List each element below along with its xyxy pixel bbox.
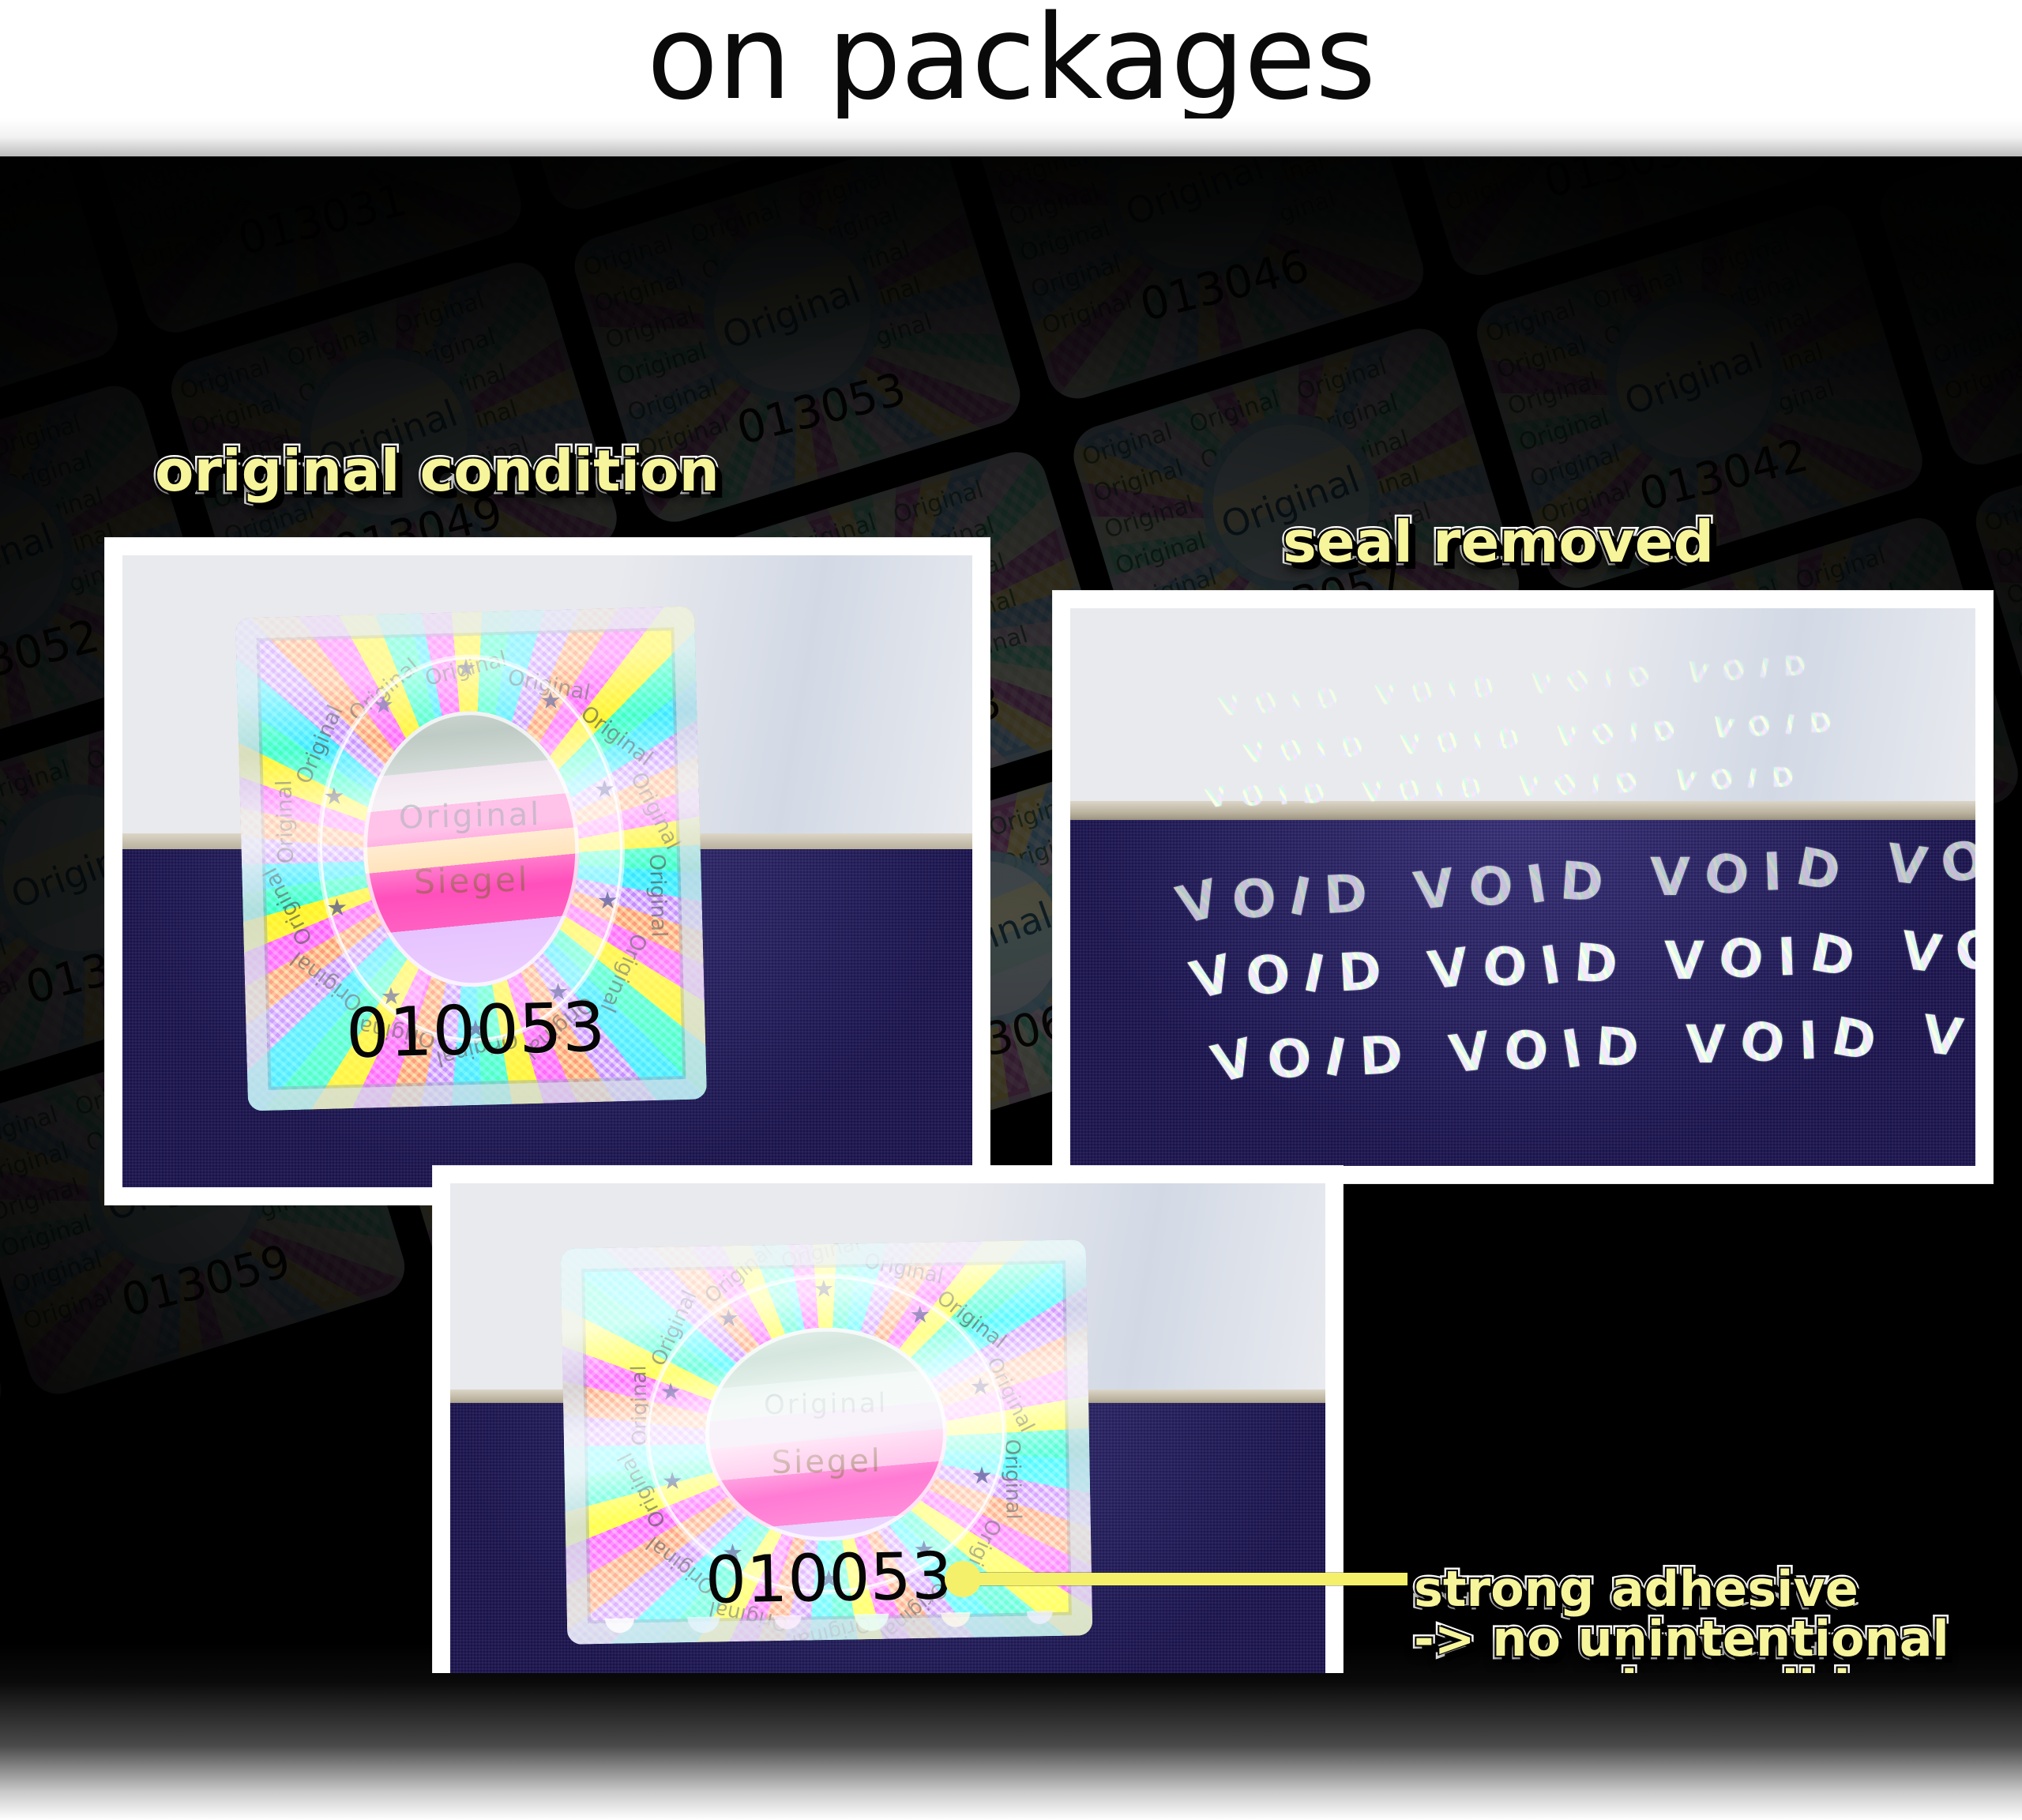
void-residue-letter: I [1299, 947, 1329, 1002]
void-residue-letter: D [1302, 780, 1325, 808]
void-residue-letter: D [1652, 717, 1677, 746]
photo-original-image: OriginalOriginalOriginalOriginalOriginal… [122, 555, 972, 1187]
void-residue-gap [1867, 928, 1887, 981]
void-residue-letter: V [1664, 935, 1704, 987]
void-residue-letter: D [1573, 937, 1619, 992]
void-residue-letter: I [1285, 870, 1315, 925]
void-residue-letter: V [1673, 766, 1697, 796]
void-residue-letter: D [1558, 855, 1605, 910]
void-residue-gap [1689, 717, 1700, 745]
void-residue-letter: O [1699, 844, 1754, 905]
seal-serial-number: 010053 [705, 1539, 953, 1618]
void-residue-letter: I [1558, 1022, 1585, 1077]
void-residue-letter: O [1713, 929, 1768, 990]
void-residue-letter: D [1625, 664, 1651, 693]
annotation-leader-line [965, 1573, 1408, 1585]
void-residue-letter: V [1650, 852, 1690, 904]
void-residue-letter: O [1747, 713, 1771, 741]
void-residue-letter: V [1374, 681, 1397, 709]
void-residue-letter: O [1552, 770, 1579, 800]
void-residue-letter: D [1494, 725, 1521, 755]
void-residue-gap [1351, 684, 1362, 712]
void-residue-row: VOID VOID VOID VOID [1190, 920, 1975, 1005]
void-residue-letter: D [1792, 840, 1844, 900]
void-residue-letter: V [1400, 731, 1423, 760]
seal-serial-number: 010053 [344, 988, 606, 1074]
void-residue-letter: O [1396, 776, 1422, 806]
void-residue-letter: V [1919, 1008, 1965, 1065]
void-residue-letter: D [1315, 686, 1339, 713]
void-residue-letter: O [1254, 690, 1277, 717]
void-residue-letter: O [1279, 738, 1302, 765]
void-residue-letter: D [1614, 769, 1639, 798]
void-residue-letter: O [1231, 873, 1276, 926]
void-residue-letter: V [1897, 925, 1944, 982]
photo-seal-lifted-image: OriginalOriginalOriginalOriginalOriginal… [450, 1183, 1325, 1673]
void-residue-gap [1807, 763, 1817, 790]
void-residue-letter: O [1973, 1006, 1975, 1063]
void-residue-letter: V [1556, 724, 1577, 751]
void-residue-letter: V [1172, 872, 1224, 932]
void-residue-gap [1616, 853, 1637, 906]
void-residue-letter: V [1686, 659, 1710, 689]
void-residue-letter: V [1425, 942, 1471, 998]
void-residue-letter: O [1937, 833, 1975, 891]
photo-original-condition[interactable]: OriginalOriginalOriginalOriginalOriginal… [105, 538, 990, 1205]
void-residue-letter: I [1523, 857, 1550, 912]
void-residue-letter: O [1408, 679, 1434, 709]
void-residue-letter: O [1479, 939, 1529, 996]
void-residue-gap [1853, 841, 1874, 894]
void-residue-letter: D [1594, 1021, 1641, 1076]
void-residue-letter: O [1722, 657, 1746, 685]
void-residue-letter: O [1246, 949, 1291, 1002]
void-residue-letter: D [1809, 710, 1831, 737]
void-residue-gap [1494, 774, 1505, 801]
void-residue-letter: V [1217, 691, 1243, 722]
void-residue-letter: V [1446, 1025, 1493, 1081]
void-residue-letter: I [1745, 765, 1760, 793]
void-residue-letter: V [1711, 714, 1735, 744]
void-residue-gap [1889, 1012, 1908, 1065]
title-band: on packages [0, 0, 2022, 156]
void-residue-letter: I [1471, 728, 1483, 756]
void-residue-gap [1532, 725, 1543, 753]
void-residue-letter: V [1362, 778, 1385, 807]
void-residue-on-desk: VOID VOID VOID VOID VOID VOID VOID VOID … [1170, 848, 1876, 1094]
page-title: on packages [0, 0, 2022, 119]
void-residue-gap [1380, 866, 1400, 919]
void-residue-gap [1652, 1020, 1672, 1073]
void-residue-letter: O [1952, 923, 1975, 980]
void-residue-on-card: VOID VOID VOID VOID VOID VOID VOID VOID … [1206, 670, 1840, 815]
void-residue-letter: I [1446, 677, 1457, 705]
void-residue-letter: O [1266, 1033, 1311, 1086]
void-residue-letter: V [1242, 739, 1268, 769]
void-residue-row: VOID VOID VOID VOID [1206, 763, 1818, 811]
void-residue-letter: I [1276, 781, 1290, 810]
void-residue-letter: D [1323, 867, 1369, 922]
void-residue-letter: D [1828, 1010, 1880, 1070]
void-residue-row: VOID VOID VOID VOID [1244, 709, 1856, 767]
photo-seal-lifted[interactable]: OriginalOriginalOriginalOriginalOriginal… [433, 1166, 1343, 1673]
void-residue-letter: D [1771, 765, 1793, 792]
void-residue-letter: O [1565, 667, 1592, 698]
void-residue-letter: O [1709, 766, 1733, 794]
caption-original-condition: original condition [155, 442, 720, 500]
void-residue-letter: D [1456, 773, 1483, 803]
void-residue-letter: I [1434, 777, 1445, 804]
void-residue-letter: I [1314, 736, 1329, 765]
void-residue-letter: I [1798, 1015, 1819, 1068]
void-residue-letter: D [1469, 674, 1496, 704]
void-residue-gap [1394, 945, 1414, 998]
void-residue-letter: D [1340, 735, 1363, 762]
photo-seal-removed[interactable]: VOID VOID VOID VOID VOID VOID VOID VOID … [1053, 591, 1993, 1183]
void-residue-letter: V [1686, 1019, 1726, 1071]
void-residue-letter: I [1590, 771, 1602, 799]
void-residue-letter: D [1806, 927, 1859, 986]
void-residue-letter: V [1883, 837, 1930, 893]
void-residue-letter: D [1783, 653, 1806, 680]
annotation-leader-dot [945, 1561, 981, 1597]
void-residue-letter: V [1186, 948, 1238, 1008]
void-residue-gap [1651, 769, 1661, 795]
void-residue-letter: V [1518, 773, 1539, 801]
void-residue-row: VOID VOID VOID VOID [1212, 1003, 1975, 1088]
caption-strong-adhesive: strong adhesive -> no unintentional remo… [1414, 1564, 1949, 1673]
void-residue-letter: O [1501, 1023, 1550, 1080]
void-residue-letter: V [1207, 1032, 1259, 1092]
void-residue-letter: O [1590, 720, 1617, 750]
void-residue-gap [1415, 1028, 1435, 1081]
void-residue-letter: I [1289, 688, 1303, 716]
void-residue-gap [1377, 733, 1388, 761]
void-residue-letter: I [1321, 1030, 1351, 1085]
void-residue-letter: O [1734, 1013, 1790, 1074]
hologram-seal: OriginalOriginalOriginalOriginalOriginal… [235, 607, 707, 1111]
void-residue-letter: I [1603, 666, 1614, 694]
photo-seal-removed-image: VOID VOID VOID VOID VOID VOID VOID VOID … [1070, 608, 1975, 1166]
void-residue-letter: I [1776, 931, 1798, 984]
void-residue-letter: V [1204, 782, 1230, 813]
void-residue-letter: I [1537, 939, 1565, 994]
void-residue-letter: I [1628, 720, 1640, 747]
void-residue-letter: O [1434, 728, 1460, 758]
void-residue-letter: V [1531, 671, 1552, 698]
void-residue-letter: I [1783, 712, 1798, 740]
void-residue-gap [1663, 662, 1674, 690]
void-residue-gap [1507, 673, 1518, 701]
void-residue-gap [1845, 709, 1856, 736]
void-residue-letter: D [1358, 1029, 1404, 1084]
void-residue-gap [1339, 780, 1349, 807]
void-residue-letter: O [1241, 783, 1264, 810]
void-residue-letter: I [1757, 655, 1772, 683]
void-residue-letter: I [1762, 846, 1783, 899]
void-residue-letter: V [1411, 862, 1457, 919]
void-residue-letter: O [1466, 859, 1516, 916]
main-stage: Original Original Original Original Orig… [0, 156, 2022, 1673]
void-residue-gap [1819, 651, 1830, 679]
caption-seal-removed: seal removed [1283, 513, 1714, 571]
void-residue-letter: D [1336, 946, 1382, 1000]
void-residue-gap [1631, 937, 1651, 990]
